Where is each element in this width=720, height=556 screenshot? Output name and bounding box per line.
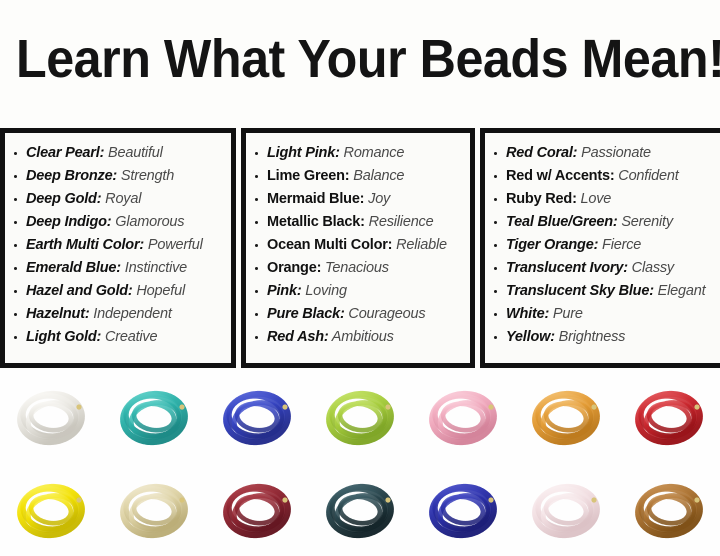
- legend-item: Red w/ Accents: Confident: [491, 165, 716, 188]
- legend-list-3: Red Coral: PassionateRed w/ Accents: Con…: [491, 142, 716, 349]
- bead-meaning-text: Royal: [101, 191, 141, 207]
- bead-color-name: Translucent Sky Blue:: [506, 283, 654, 299]
- orange-amber-strand: [514, 370, 617, 463]
- legend-item: Deep Bronze: Strength: [11, 165, 227, 188]
- bead-color-name: Earth Multi Color:: [26, 237, 144, 253]
- bead-color-name: Emerald Blue:: [26, 260, 121, 276]
- legend-list-2: Light Pink: RomanceLime Green: BalanceMe…: [252, 142, 466, 349]
- legend-column-3: Red Coral: PassionateRed w/ Accents: Con…: [480, 128, 720, 368]
- bead-color-name: White:: [506, 306, 549, 322]
- bead-meaning-text: Powerful: [144, 237, 203, 253]
- bead-meaning-text: Confident: [614, 168, 678, 184]
- legend-item: Light Pink: Romance: [252, 142, 466, 165]
- bead-color-name: Pure Black:: [267, 306, 345, 322]
- legend-item: Mermaid Blue: Joy: [252, 188, 466, 211]
- bead-color-name: Deep Indigo:: [26, 214, 111, 230]
- bead-color-name: Pink:: [267, 283, 301, 299]
- light-gold-champagne-strand: [103, 463, 206, 556]
- bead-meaning-text: Love: [577, 191, 611, 207]
- bead-color-name: Ocean Multi Color:: [267, 237, 392, 253]
- bead-color-name: Orange:: [267, 260, 321, 276]
- teal-green-strand: [103, 370, 206, 463]
- bead-meaning-text: Brightness: [555, 329, 625, 345]
- bead-color-name: Translucent Ivory:: [506, 260, 628, 276]
- bead-color-name: Deep Bronze:: [26, 168, 117, 184]
- legend-item: Hazel and Gold: Hopeful: [11, 280, 227, 303]
- photo-row-top: [0, 370, 720, 463]
- bead-color-name: Yellow:: [506, 329, 555, 345]
- bead-color-name: Light Pink:: [267, 145, 340, 161]
- legend-item: Ocean Multi Color: Reliable: [252, 234, 466, 257]
- bead-color-name: Red Coral:: [506, 145, 577, 161]
- legend-item: Orange: Tenacious: [252, 257, 466, 280]
- bead-meaning-text: Tenacious: [321, 260, 389, 276]
- legend-column-1: Clear Pearl: BeautifulDeep Bronze: Stren…: [0, 128, 236, 368]
- legend-item: Hazelnut: Independent: [11, 303, 227, 326]
- bead-meaning-legend: Clear Pearl: BeautifulDeep Bronze: Stren…: [0, 128, 720, 368]
- bead-color-name: Mermaid Blue:: [267, 191, 364, 207]
- bead-meaning-text: Beautiful: [104, 145, 162, 161]
- bead-color-name: Light Gold:: [26, 329, 101, 345]
- bead-meaning-text: Glamorous: [111, 214, 184, 230]
- clear-pearl-white-strand: [0, 370, 103, 463]
- legend-item: Clear Pearl: Beautiful: [11, 142, 227, 165]
- legend-item: Yellow: Brightness: [491, 326, 716, 349]
- deep-bronze-strand: [617, 463, 720, 556]
- bead-meaning-text: Courageous: [345, 306, 426, 322]
- bead-meaning-text: Instinctive: [121, 260, 187, 276]
- legend-item: Metallic Black: Resilience: [252, 211, 466, 234]
- bead-color-name: Teal Blue/Green:: [506, 214, 618, 230]
- legend-item: White: Pure: [491, 303, 716, 326]
- legend-item: Translucent Ivory: Classy: [491, 257, 716, 280]
- bead-meaning-text: Reliable: [392, 237, 447, 253]
- title-bar: Learn What Your Beads Mean!: [0, 0, 720, 118]
- bead-meaning-text: Joy: [364, 191, 390, 207]
- legend-item: Teal Blue/Green: Serenity: [491, 211, 716, 234]
- bead-meaning-text: Elegant: [654, 283, 706, 299]
- bead-meaning-text: Strength: [117, 168, 174, 184]
- legend-item: Earth Multi Color: Powerful: [11, 234, 227, 257]
- bead-color-name: Hazel and Gold:: [26, 283, 133, 299]
- yellow-strand: [0, 463, 103, 556]
- light-pink-strand: [411, 370, 514, 463]
- legend-item: Tiger Orange: Fierce: [491, 234, 716, 257]
- bead-meaning-text: Passionate: [577, 145, 651, 161]
- legend-item: Translucent Sky Blue: Elegant: [491, 280, 716, 303]
- legend-item: Emerald Blue: Instinctive: [11, 257, 227, 280]
- lime-green-strand: [309, 370, 412, 463]
- bead-meaning-text: Creative: [101, 329, 157, 345]
- bead-meaning-text: Hopeful: [133, 283, 185, 299]
- bead-color-name: Metallic Black:: [267, 214, 365, 230]
- bead-meaning-text: Ambitious: [329, 329, 394, 345]
- metallic-black-teal-strand: [309, 463, 412, 556]
- legend-item: Light Gold: Creative: [11, 326, 227, 349]
- bead-color-name: Deep Gold:: [26, 191, 101, 207]
- ruby-red-strand: [206, 463, 309, 556]
- bead-meaning-text: Resilience: [365, 214, 434, 230]
- bead-color-name: Clear Pearl:: [26, 145, 104, 161]
- legend-item: Pure Black: Courageous: [252, 303, 466, 326]
- bead-color-name: Red Ash:: [267, 329, 329, 345]
- translucent-sky-pink-strand: [514, 463, 617, 556]
- bead-meaning-text: Balance: [349, 168, 404, 184]
- bead-meaning-text: Romance: [340, 145, 405, 161]
- bead-color-name: Red w/ Accents:: [506, 168, 614, 184]
- legend-list-1: Clear Pearl: BeautifulDeep Bronze: Stren…: [11, 142, 227, 349]
- bead-meaning-text: Pure: [549, 306, 583, 322]
- deep-indigo-blue-strand: [206, 370, 309, 463]
- legend-item: Deep Indigo: Glamorous: [11, 211, 227, 234]
- bead-photo-strip: [0, 370, 720, 556]
- mermaid-blue-strand: [411, 463, 514, 556]
- bead-color-name: Hazelnut:: [26, 306, 89, 322]
- legend-item: Ruby Red: Love: [491, 188, 716, 211]
- bead-meaning-text: Independent: [89, 306, 171, 322]
- legend-item: Deep Gold: Royal: [11, 188, 227, 211]
- legend-item: Red Ash: Ambitious: [252, 326, 466, 349]
- page-title: Learn What Your Beads Mean!: [16, 32, 720, 86]
- photo-row-bottom: [0, 463, 720, 556]
- legend-column-2: Light Pink: RomanceLime Green: BalanceMe…: [241, 128, 475, 368]
- red-coral-strand: [617, 370, 720, 463]
- legend-item: Lime Green: Balance: [252, 165, 466, 188]
- legend-item: Pink: Loving: [252, 280, 466, 303]
- bead-meaning-text: Loving: [301, 283, 346, 299]
- bead-color-name: Ruby Red:: [506, 191, 577, 207]
- bead-meaning-text: Fierce: [598, 237, 641, 253]
- bead-color-name: Tiger Orange:: [506, 237, 598, 253]
- legend-item: Red Coral: Passionate: [491, 142, 716, 165]
- bead-color-name: Lime Green:: [267, 168, 349, 184]
- bead-meaning-text: Serenity: [618, 214, 673, 230]
- bead-meaning-text: Classy: [628, 260, 674, 276]
